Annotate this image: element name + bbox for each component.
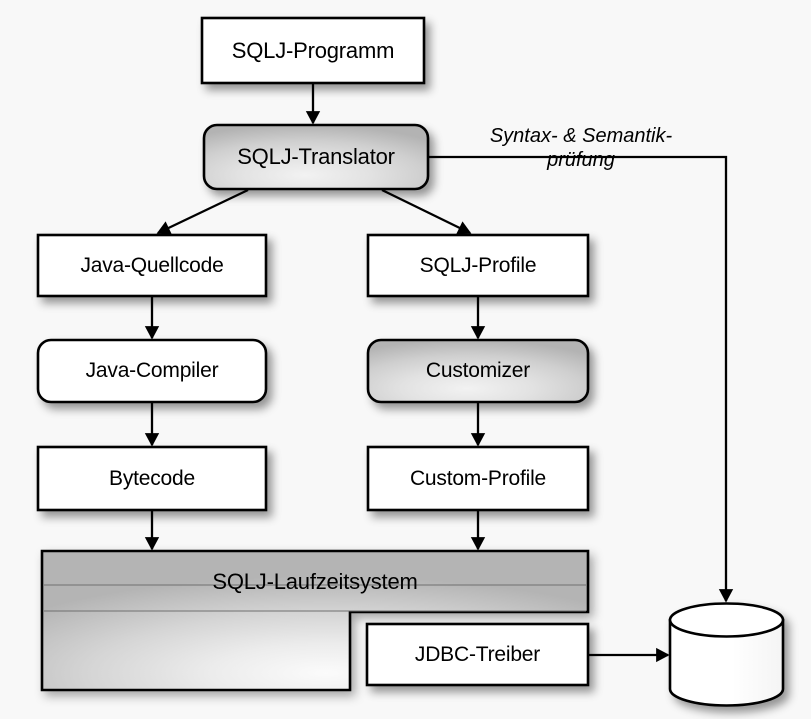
hit-sqlj-translator[interactable] [204, 125, 428, 189]
hit-java-compiler[interactable] [38, 340, 266, 402]
edge-label-line-1: Syntax- & Semantik- [490, 125, 672, 147]
edge-label-line-2: prüfung [547, 149, 615, 171]
hit-sqlj-laufzeitsystem[interactable] [42, 551, 588, 612]
hit-custom-profile[interactable] [368, 447, 588, 510]
edge-label-syntax-semantik-pruefung: Syntax- & Semantik-prüfung [436, 124, 726, 173]
edge-translator-to-quellcode [158, 190, 248, 233]
hit-bytecode[interactable] [38, 447, 266, 510]
hit-sqlj-programm[interactable] [202, 18, 424, 83]
hit-datenbank[interactable] [670, 604, 783, 705]
hit-customizer[interactable] [368, 340, 588, 402]
hit-java-quellcode[interactable] [38, 235, 266, 296]
edge-translator-to-profile [382, 190, 470, 233]
hit-sqlj-profile[interactable] [368, 235, 588, 296]
hit-jdbc-treiber[interactable] [367, 624, 588, 685]
diagram-canvas: SQLJ-Programm SQLJ-Translator Java-Quell… [0, 0, 811, 719]
